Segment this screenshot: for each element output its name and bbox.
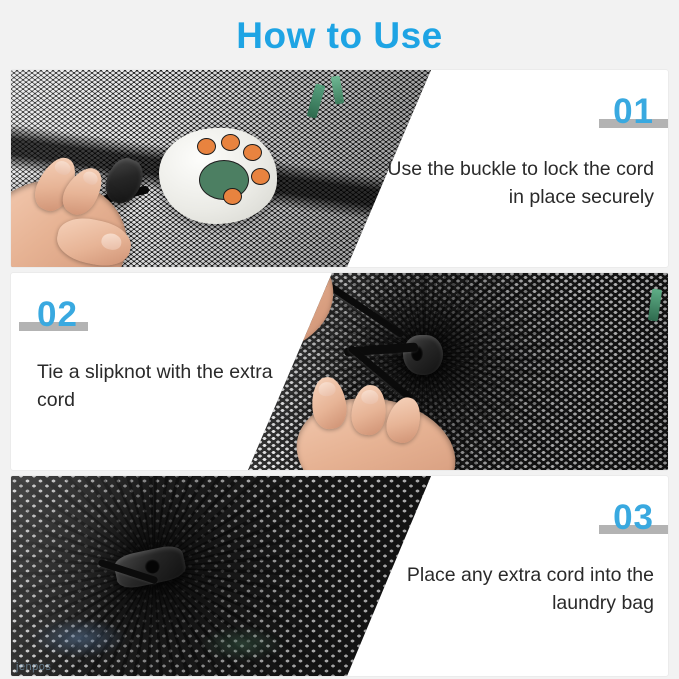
step-3-description: Place any extra cord into the laundry ba… [384, 561, 654, 618]
step-panel-1: 01 Use the buckle to lock the cord in pl… [11, 70, 668, 267]
step-1-number-wrap: 01 [613, 94, 654, 129]
garment [159, 128, 277, 224]
step-1-number: 01 [613, 92, 654, 131]
step-2-number: 02 [37, 295, 78, 334]
buckle-hole [143, 557, 161, 575]
steps-container: 01 Use the buckle to lock the cord in pl… [0, 70, 679, 676]
paw-toe-icon [197, 138, 216, 155]
step-3-text-block: 03 Place any extra cord into the laundry… [364, 476, 668, 676]
step-1-description: Use the buckle to lock the cord in place… [384, 155, 654, 212]
garment-hint [31, 618, 127, 658]
paw-toe-icon [223, 188, 242, 205]
paw-toe-icon [221, 134, 240, 151]
step-2-text-block: 02 Tie a slipknot with the extra cord [11, 273, 327, 470]
step-panel-2: 02 Tie a slipknot with the extra cord [11, 273, 668, 470]
fingernail [361, 389, 379, 405]
watermark: jenpos [16, 661, 51, 673]
step-2-number-wrap: 02 [37, 297, 78, 332]
page-title: How to Use [0, 0, 679, 70]
fingernail [81, 169, 100, 187]
cord-buckle [403, 335, 443, 375]
paw-toe-icon [243, 144, 262, 161]
step-2-description: Tie a slipknot with the extra cord [37, 358, 273, 415]
fingernail [53, 158, 73, 177]
step-panel-3: 03 Place any extra cord into the laundry… [11, 476, 668, 676]
step-3-number: 03 [613, 498, 654, 537]
step-3-number-wrap: 03 [613, 500, 654, 535]
step-1-text-block: 01 Use the buckle to lock the cord in pl… [364, 70, 668, 267]
thumbnail [100, 232, 123, 252]
garment-hint [199, 626, 285, 662]
paw-toe-icon [251, 168, 270, 185]
